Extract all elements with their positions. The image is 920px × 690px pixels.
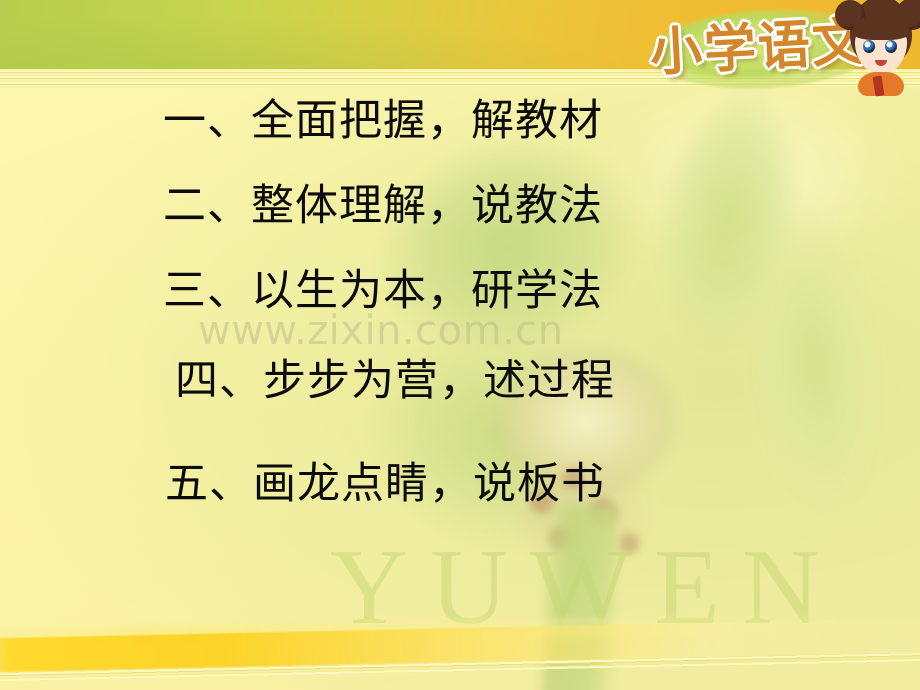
outline-item-2: 二、整体理解，说教法 [163, 185, 603, 228]
outline-item-5: 五、画龙点睛，说板书 [165, 463, 605, 506]
mascot-eye-left [863, 40, 875, 53]
outline-item-3: 三、以生为本，研学法 [163, 270, 603, 313]
brand-logo: 小学语文 [638, 0, 920, 100]
outline-item-4: 四、步步为营，述过程 [175, 360, 615, 403]
presentation-slide: YUWEN 小学语文 一、全面把握，解教材 二、整体理解，说教法 三、以生为本，… [0, 0, 920, 690]
bottom-decoration [0, 580, 920, 690]
schoolgirl-mascot-icon [834, 0, 920, 94]
mascot-eye-right [885, 40, 897, 53]
site-watermark: www.zixin.com.cn [198, 308, 564, 354]
outline-item-1: 一、全面把握，解教材 [163, 100, 603, 143]
